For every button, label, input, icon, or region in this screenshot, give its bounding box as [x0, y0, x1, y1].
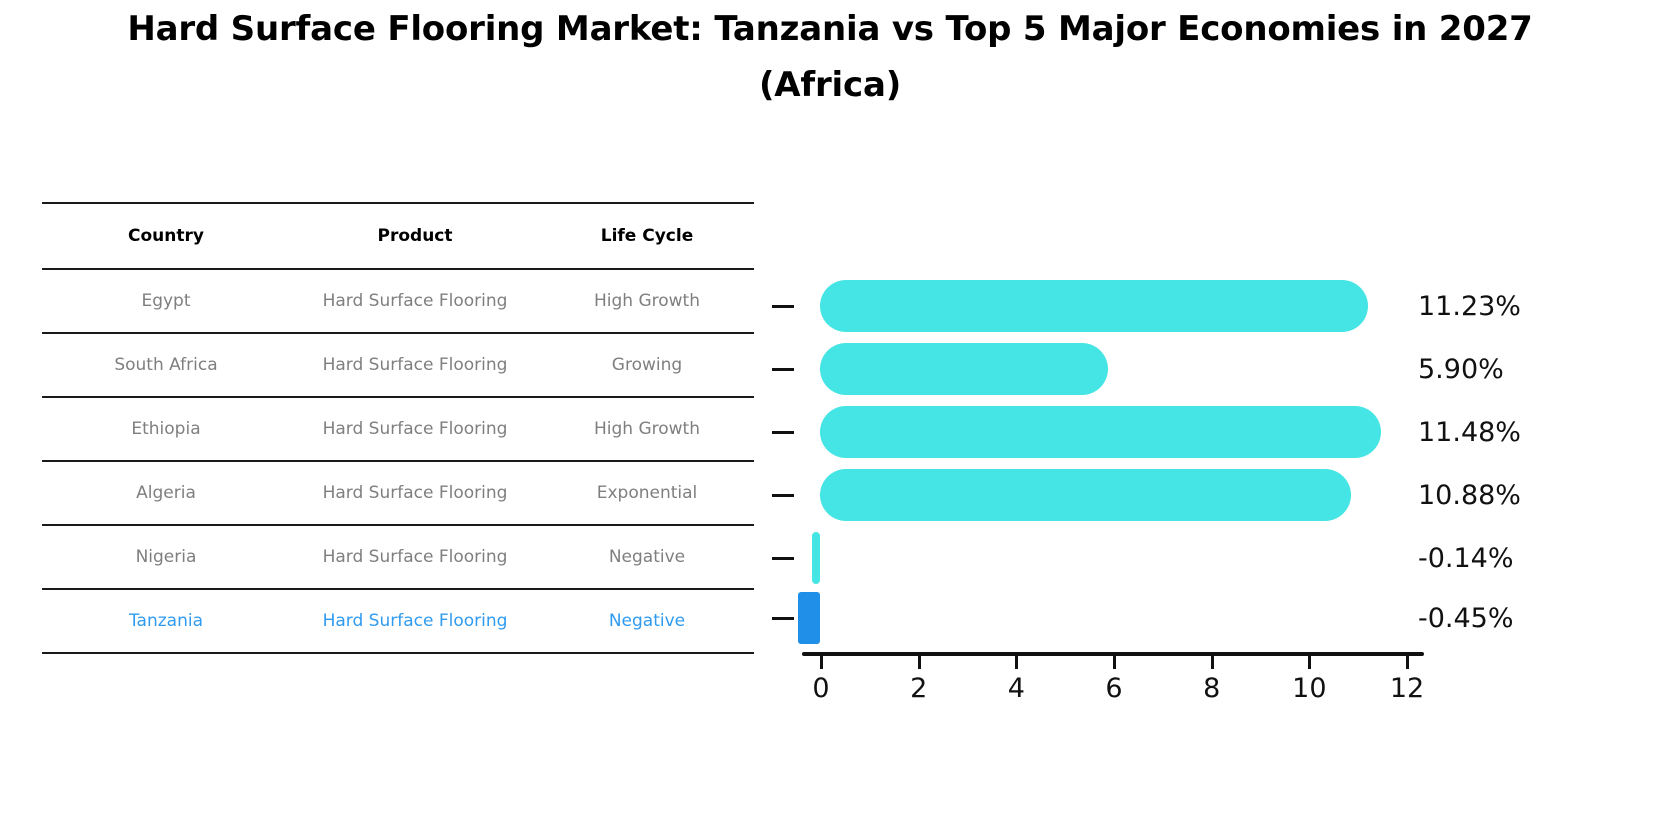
x-axis-tick-label: 2: [910, 673, 927, 704]
bar-nigeria[interactable]: [812, 532, 820, 584]
x-axis-tick: [1113, 656, 1116, 669]
bar-ethiopia[interactable]: [820, 406, 1381, 458]
market-table: Country Product Life Cycle EgyptHard Sur…: [42, 202, 754, 654]
table-cell-life-cycle: High Growth: [540, 397, 754, 461]
x-axis-tick-label: 12: [1390, 673, 1424, 704]
table-cell-life-cycle: Growing: [540, 333, 754, 397]
table-cell-product: Hard Surface Flooring: [290, 333, 540, 397]
bar-row: 10.88%: [770, 469, 1660, 521]
table-header: Country Product Life Cycle: [42, 203, 754, 269]
table-cell-product: Hard Surface Flooring: [290, 269, 540, 333]
page-title-block: Hard Surface Flooring Market: Tanzania v…: [0, 0, 1660, 102]
x-axis-tick-label: 10: [1292, 673, 1326, 704]
y-axis-tick: [772, 431, 794, 434]
table-cell-country: Algeria: [42, 461, 290, 525]
table-row: South AfricaHard Surface FlooringGrowing: [42, 333, 754, 397]
bar-value-label: 11.48%: [1418, 406, 1521, 458]
table-cell-country: South Africa: [42, 333, 290, 397]
bar-south-africa[interactable]: [820, 343, 1108, 395]
plot-area: 11.23%5.90%11.48%10.88%-0.14%-0.45% 0246…: [770, 130, 1660, 823]
bar-value-label: -0.45%: [1418, 592, 1514, 644]
bar-row: -0.45%: [770, 592, 1660, 644]
table-row: EthiopiaHard Surface FlooringHigh Growth: [42, 397, 754, 461]
table-cell-product: Hard Surface Flooring: [290, 525, 540, 589]
y-axis-tick: [772, 557, 794, 560]
content-area: Country Product Life Cycle EgyptHard Sur…: [0, 130, 1660, 823]
table-row: EgyptHard Surface FlooringHigh Growth: [42, 269, 754, 333]
table-cell-country: Egypt: [42, 269, 290, 333]
table-cell-life-cycle: Negative: [540, 589, 754, 653]
table-cell-country: Ethiopia: [42, 397, 290, 461]
x-axis-tick-label: 4: [1008, 673, 1025, 704]
x-axis-tick: [820, 656, 823, 669]
table-cell-product: Hard Surface Flooring: [290, 589, 540, 653]
table-cell-country: Tanzania: [42, 589, 290, 653]
bar-value-label: 10.88%: [1418, 469, 1521, 521]
page-title: Hard Surface Flooring Market: Tanzania v…: [0, 12, 1660, 46]
x-axis-tick-label: 0: [812, 673, 829, 704]
bar-chart-panel: 11.23%5.90%11.48%10.88%-0.14%-0.45% 0246…: [770, 130, 1660, 823]
x-axis-tick: [918, 656, 921, 669]
bar-row: 5.90%: [770, 343, 1660, 395]
bar-value-label: -0.14%: [1418, 532, 1514, 584]
x-axis-tick-label: 6: [1105, 673, 1122, 704]
column-header-life-cycle: Life Cycle: [540, 203, 754, 269]
y-axis-tick: [772, 305, 794, 308]
x-axis-tick-label: 8: [1203, 673, 1220, 704]
y-axis-tick: [772, 494, 794, 497]
page-subtitle: (Africa): [0, 68, 1660, 102]
x-axis-tick: [1406, 656, 1409, 669]
table-cell-life-cycle: High Growth: [540, 269, 754, 333]
bar-row: 11.48%: [770, 406, 1660, 458]
y-axis-tick: [772, 368, 794, 371]
table-row: AlgeriaHard Surface FlooringExponential: [42, 461, 754, 525]
table-cell-product: Hard Surface Flooring: [290, 397, 540, 461]
x-axis-tick: [1015, 656, 1018, 669]
table-body: EgyptHard Surface FlooringHigh GrowthSou…: [42, 269, 754, 653]
table-row: TanzaniaHard Surface FlooringNegative: [42, 589, 754, 653]
bar-tanzania[interactable]: [798, 592, 820, 644]
table-cell-life-cycle: Exponential: [540, 461, 754, 525]
table-cell-life-cycle: Negative: [540, 525, 754, 589]
bar-value-label: 11.23%: [1418, 280, 1521, 332]
y-axis-tick: [772, 617, 794, 620]
table-header-row: Country Product Life Cycle: [42, 203, 754, 269]
bar-row: 11.23%: [770, 280, 1660, 332]
column-header-product: Product: [290, 203, 540, 269]
market-table-panel: Country Product Life Cycle EgyptHard Sur…: [42, 202, 754, 654]
x-axis-tick: [1211, 656, 1214, 669]
bar-row: -0.14%: [770, 532, 1660, 584]
bar-algeria[interactable]: [820, 469, 1351, 521]
column-header-country: Country: [42, 203, 290, 269]
table-row: NigeriaHard Surface FlooringNegative: [42, 525, 754, 589]
table-cell-country: Nigeria: [42, 525, 290, 589]
table-cell-product: Hard Surface Flooring: [290, 461, 540, 525]
bar-egypt[interactable]: [820, 280, 1368, 332]
x-axis-tick: [1308, 656, 1311, 669]
bar-value-label: 5.90%: [1418, 343, 1504, 395]
